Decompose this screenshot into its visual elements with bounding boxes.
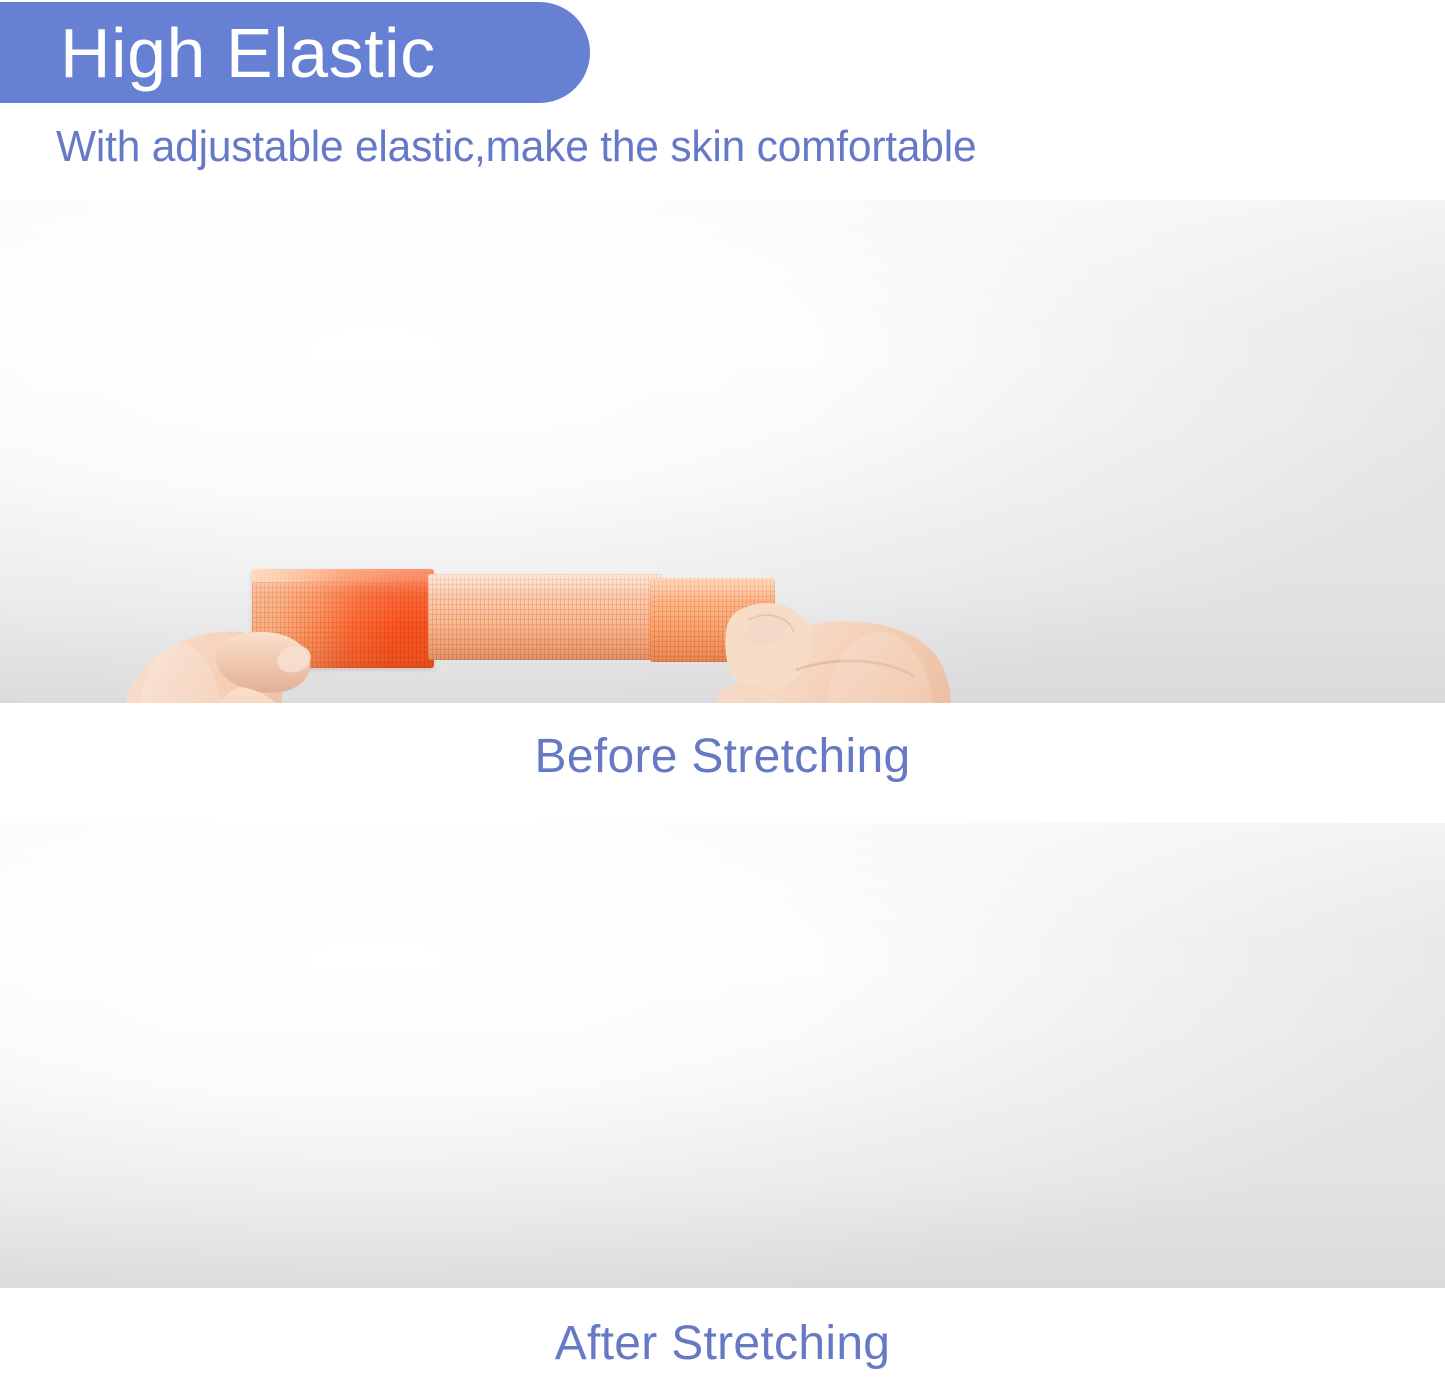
badge-title: High Elastic [0, 18, 436, 88]
bandage-strip-light [428, 574, 664, 660]
photo-backdrop [0, 823, 1445, 1288]
header-subtitle: With adjustable elastic,make the skin co… [56, 122, 976, 172]
caption-before-stretching: Before Stretching [0, 729, 1445, 784]
caption-after-stretching: After Stretching [0, 1316, 1445, 1371]
high-elastic-badge: High Elastic [0, 2, 590, 103]
header-section: High Elastic With adjustable elastic,mak… [0, 0, 1445, 200]
photo-before-stretching [0, 200, 1445, 703]
left-hand [70, 555, 370, 703]
photo-after-stretching [0, 823, 1445, 1288]
bandage-shading [428, 574, 664, 660]
right-hand [700, 578, 1000, 703]
